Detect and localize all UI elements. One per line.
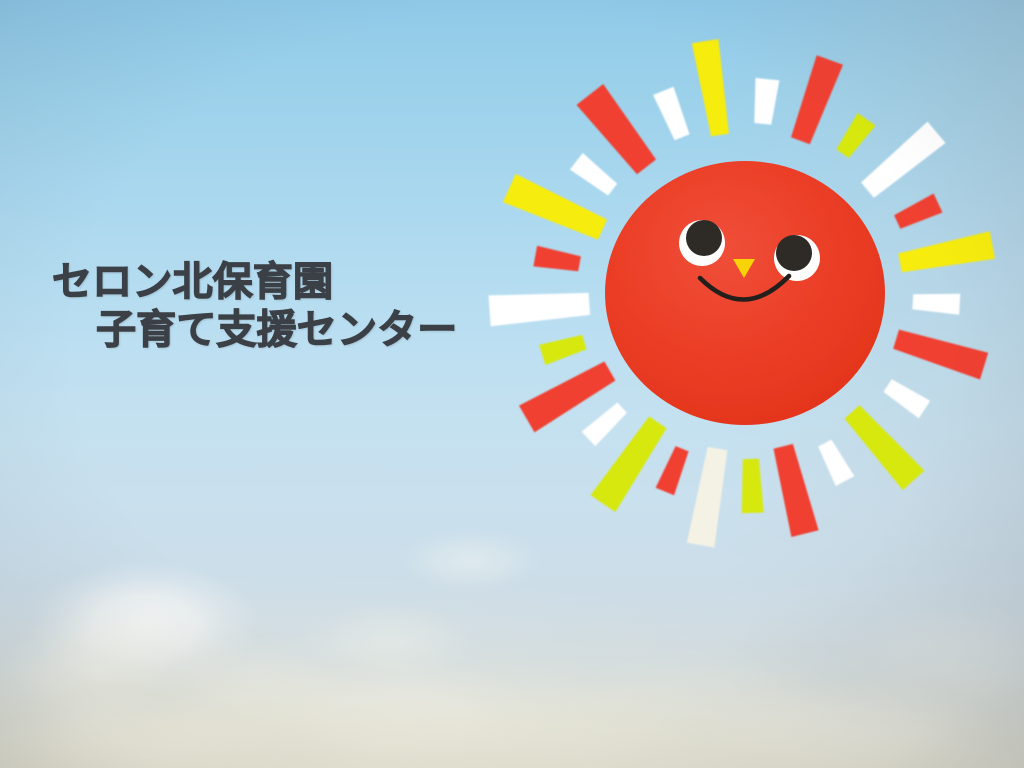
sign-title: セロン北保育園 子育て支援センター (52, 262, 457, 351)
title-line-2: 子育て支援センター (96, 310, 457, 351)
title-line-1: セロン北保育園 (52, 262, 457, 303)
screenshot-canvas: セロン北保育園 子育て支援センター (0, 0, 1024, 768)
bottom-warm-tint (0, 568, 1024, 768)
